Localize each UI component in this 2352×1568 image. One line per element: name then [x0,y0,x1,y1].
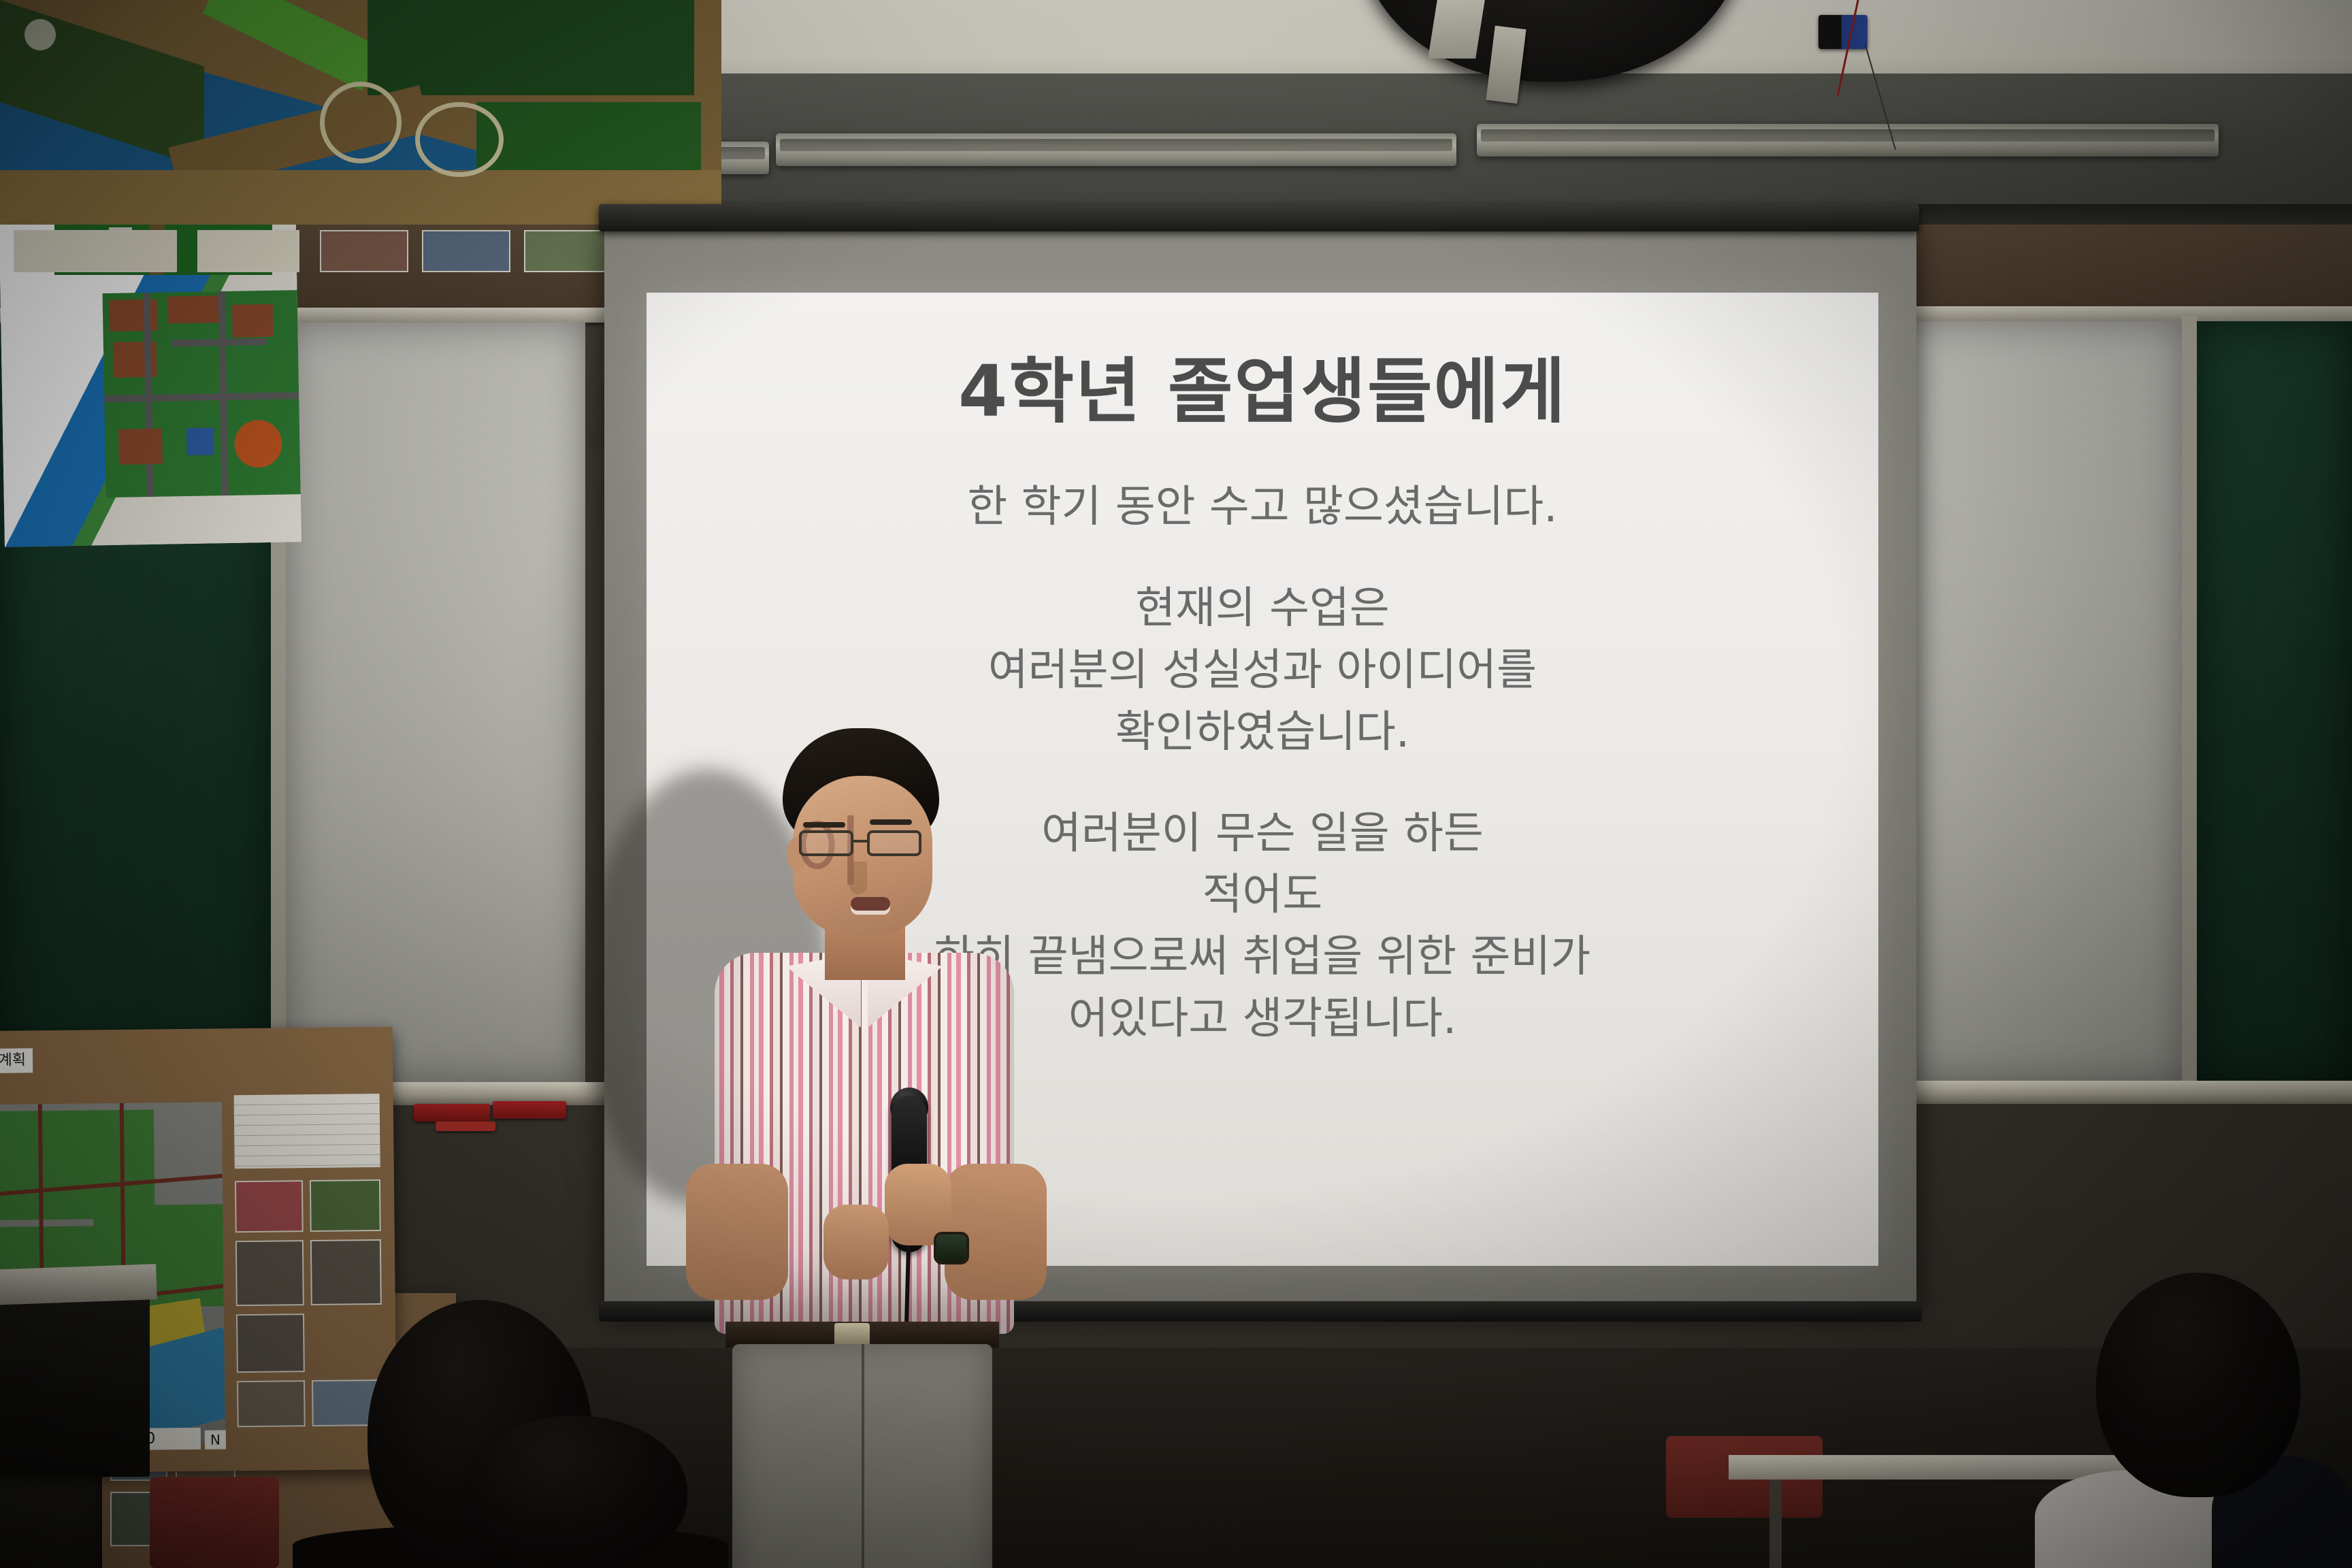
speaker-hand-left [823,1205,889,1279]
riverside-master-plan [0,0,721,225]
fluorescent-tube-icon [1477,124,2219,157]
audience-head [2096,1273,2300,1497]
plan-info-label [14,230,177,272]
eraser-icon[interactable] [414,1104,490,1122]
site-plan-map [103,290,301,497]
slide-line: 여러분의 성실성과 아이디어를 [647,640,1878,702]
speaker-hand-right [885,1164,951,1245]
wristwatch-icon [936,1235,966,1262]
plan-photo [320,230,408,272]
analysis-thumbnail [310,1179,381,1232]
chalkboard-right [2197,321,2352,1083]
plan-data-table [234,1094,380,1169]
north-arrow-icon: N [205,1430,226,1449]
speaker-mouth [851,897,890,915]
whiteboard-right [1892,321,2185,1083]
board-header-panel-right [1892,225,2352,313]
slide-spacer [647,538,1878,578]
plan-photo [524,230,612,272]
plan-sketch [197,230,299,272]
aerial-thumbnail [236,1313,305,1373]
slide-line: 한 학기 동안 수고 많으셨습니다. [647,476,1878,538]
speaker-arm-left [686,1164,788,1300]
podium [0,1286,150,1477]
fluorescent-tube-icon [776,133,1456,166]
chalk-ledge-right [1892,1081,2352,1104]
belt-buckle [834,1323,870,1346]
speaker-arm-right [945,1164,1047,1300]
eyebrow-right [870,819,912,825]
podium-top [0,1264,157,1305]
speaker: 이 [667,728,1062,1568]
slide-line: 현재의 수업은 [647,578,1878,640]
audience-head [463,1416,687,1568]
board-rail-right [1892,306,2352,321]
classroom-scene: 4학년 졸업생들에게 한 학기 동안 수고 많으셨습니다. 현재의 수업은 여러… [0,0,2352,1568]
aerial-thumbnail [235,1240,304,1306]
whiteboard-left [286,323,585,1085]
left-poster-title: 도시계획 [0,1048,33,1073]
analysis-thumbnail [235,1180,304,1232]
table-leg [1769,1480,1782,1568]
eyebrow-left [803,822,845,828]
aerial-thumbnail [310,1239,382,1305]
chair[interactable] [150,1477,279,1568]
trouser-seam [862,1344,864,1568]
photo-thumbnail [237,1380,306,1427]
board-divider-right [2182,316,2197,1088]
screen-housing [599,204,1919,231]
slide-title: 4학년 졸업생들에게 [647,333,1878,436]
junction-box-icon [1818,15,1867,49]
speaker-nose [849,862,867,894]
plan-photo [422,230,510,272]
projector-mount-plate [1428,0,1485,59]
marker-icon[interactable] [436,1122,495,1131]
eraser-icon[interactable] [493,1101,566,1119]
glasses-icon [796,830,936,857]
